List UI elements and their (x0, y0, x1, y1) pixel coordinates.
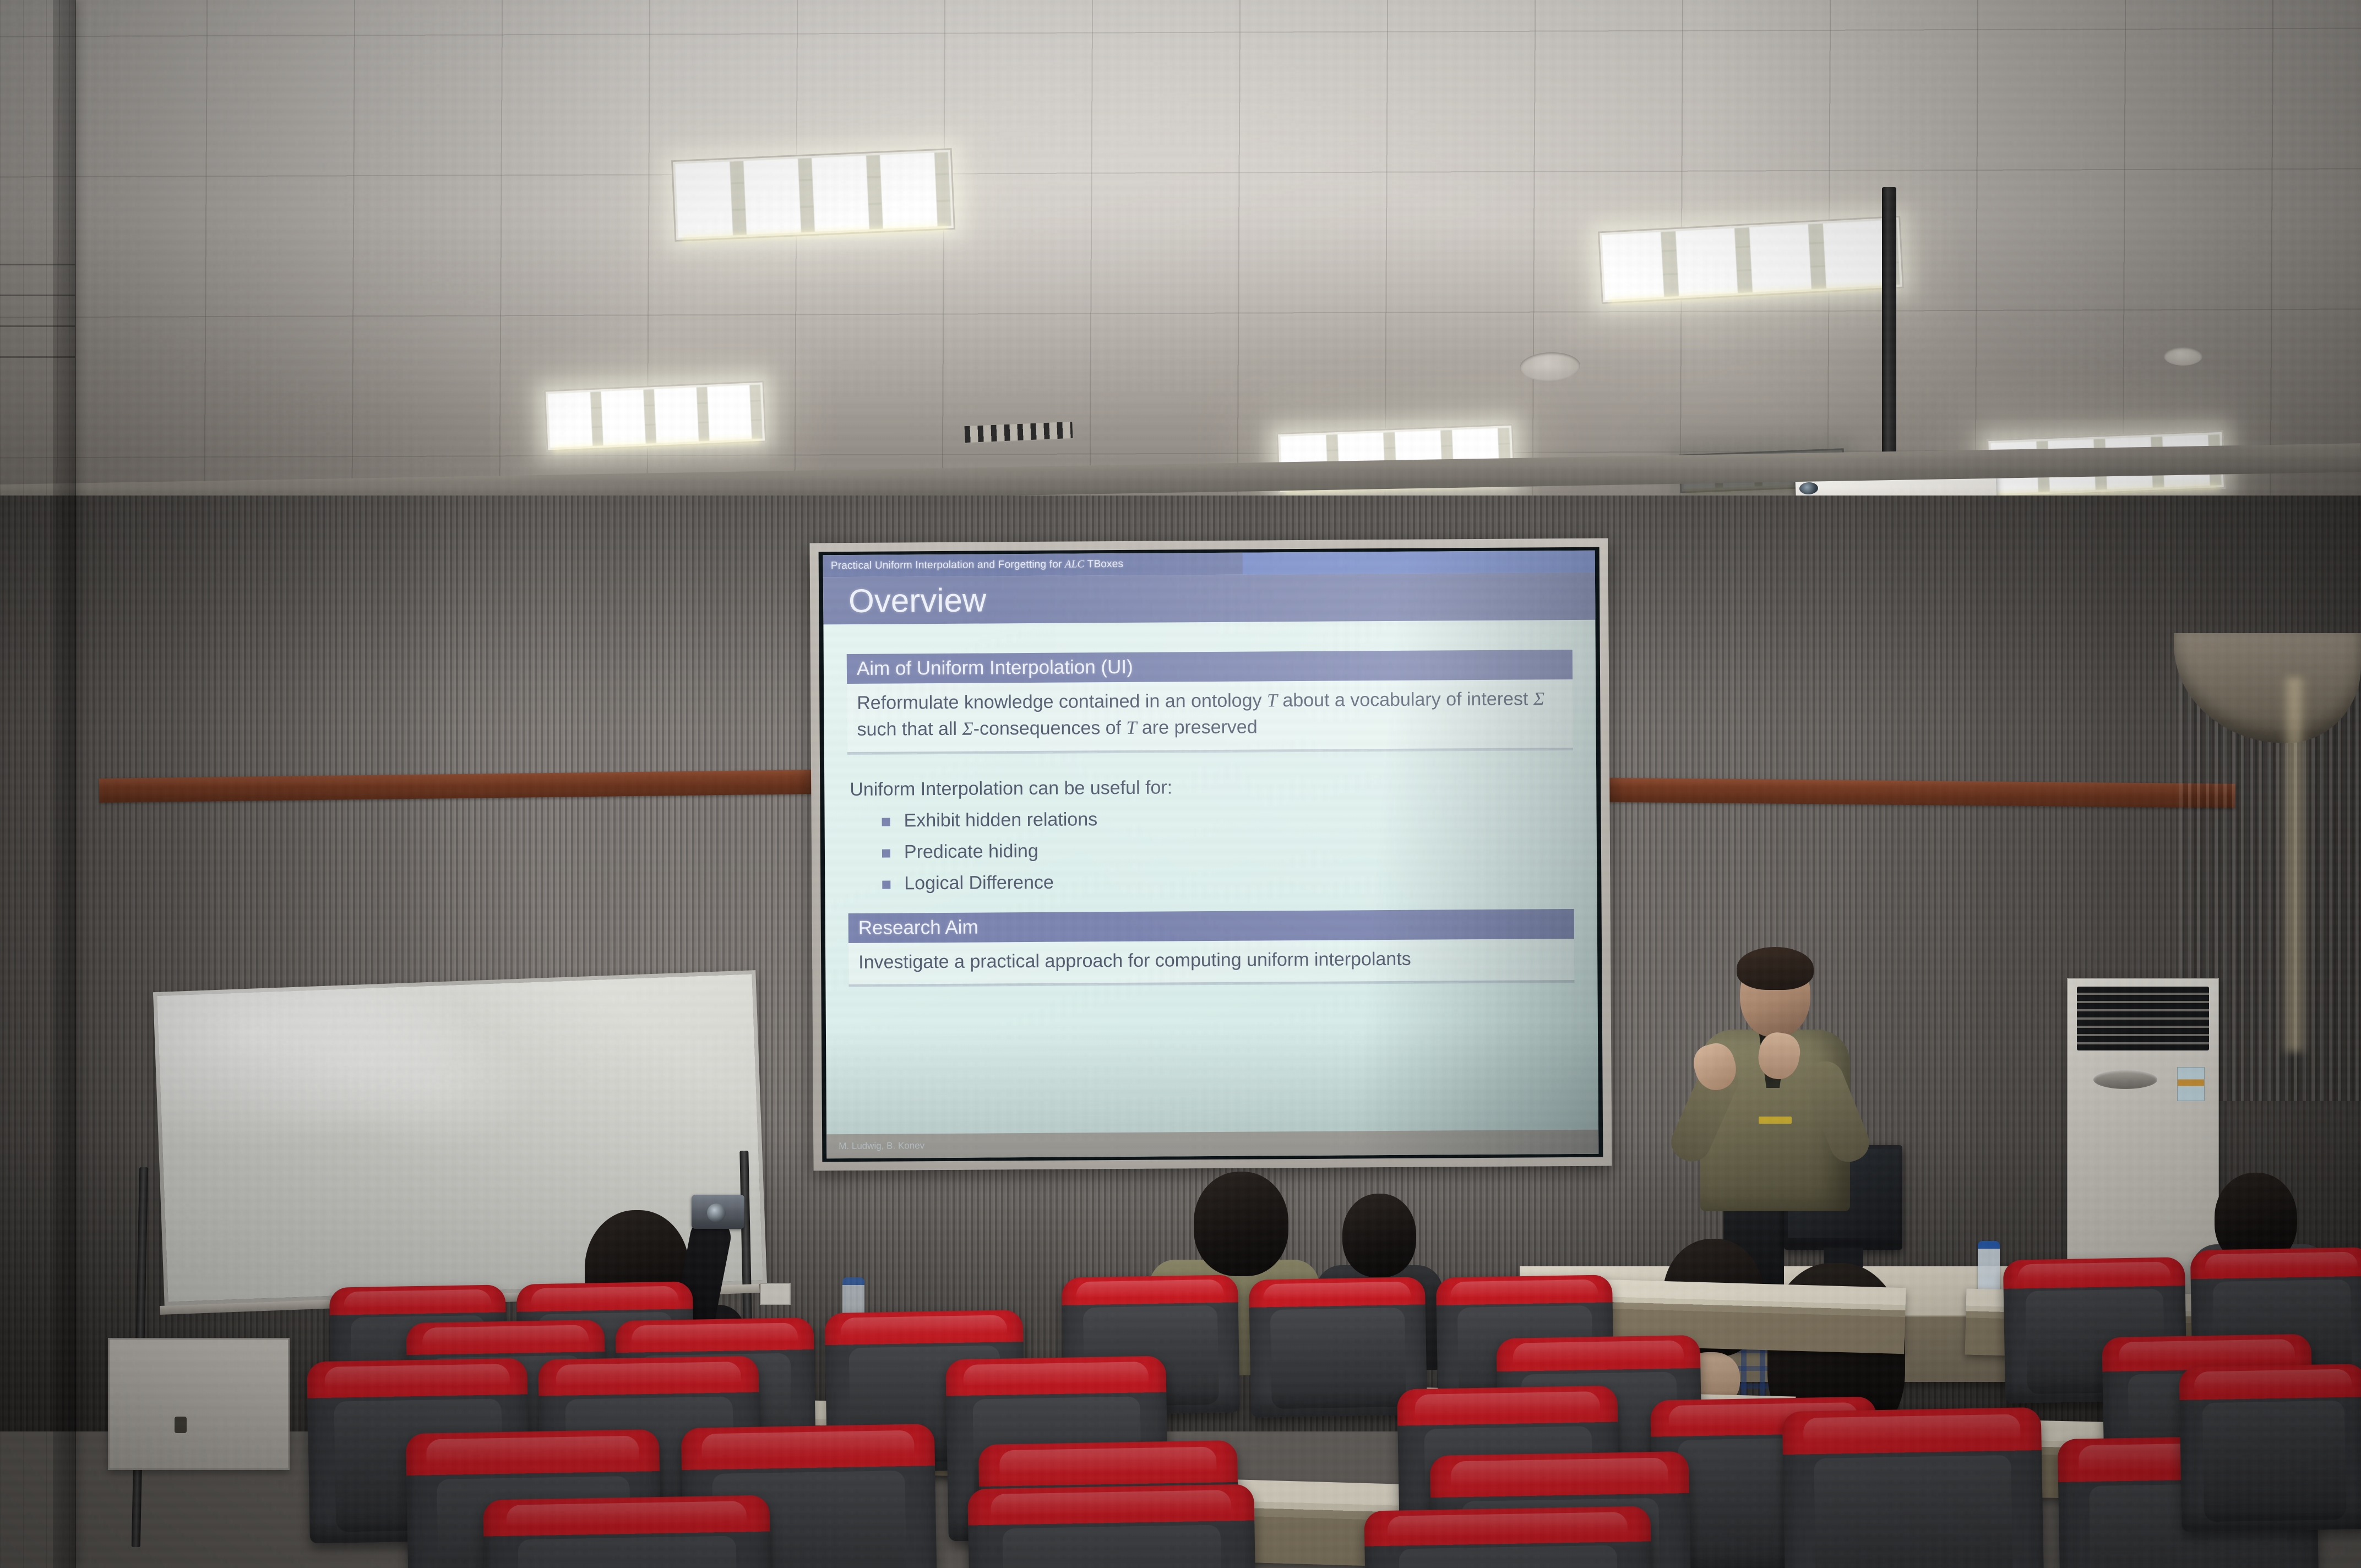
attendee-head (1194, 1172, 1288, 1276)
auditorium-seat[interactable] (483, 1495, 773, 1568)
window-daylight-glow (2281, 677, 2308, 1052)
ceiling-light-icon (544, 380, 767, 451)
slide-block-aim: Aim of Uniform Interpolation (UI) Reform… (847, 650, 1573, 754)
cabinet-handle-icon[interactable] (175, 1417, 187, 1433)
running-title-suffix: TBoxes (1084, 558, 1123, 570)
bullet-label: Exhibit hidden relations (904, 809, 1097, 831)
auditorium-seat[interactable] (967, 1484, 1257, 1568)
ac-louver-grille-icon (2077, 987, 2209, 1050)
presenter-hair (1737, 947, 1814, 990)
aim-symbol-sigma2: Σ (962, 719, 973, 739)
aim-symbol-T1: T (1267, 690, 1277, 711)
slide-bullet-list: Exhibit hidden relations Predicate hidin… (882, 806, 1574, 895)
list-item: Predicate hiding (882, 837, 1574, 863)
presenter-shirt-badge (1759, 1117, 1792, 1124)
slide-block-research-aim: Research Aim Investigate a practical app… (848, 909, 1575, 986)
square-bullet-icon (882, 818, 890, 826)
block-body-aim: Reformulate knowledge contained in an on… (847, 679, 1573, 754)
slide-section-title: Overview (848, 581, 986, 620)
projector-mount-pole (1882, 187, 1896, 473)
aim-text-4: -consequences of (973, 717, 1127, 739)
aim-symbol-T2: T (1126, 718, 1136, 738)
ceiling-light-icon (671, 148, 955, 242)
bullet-label: Logical Difference (904, 872, 1054, 894)
slide-content: Aim of Uniform Interpolation (UI) Reform… (823, 620, 1598, 1135)
ac-brand-logo (2093, 1070, 2157, 1089)
ac-energy-label (2177, 1067, 2205, 1101)
slide-lead-in: Uniform Interpolation can be useful for: (850, 775, 1573, 801)
running-title-prefix: Practical Uniform Interpolation and Forg… (831, 559, 1065, 572)
column-shadow-edge (53, 0, 76, 1568)
block-heading-aim: Aim of Uniform Interpolation (UI) (847, 650, 1573, 684)
slide-footer-authors: M. Ludwig, B. Konev (839, 1140, 924, 1152)
auditorium-seat[interactable] (2179, 1364, 2361, 1532)
block-heading-research-aim: Research Aim (848, 909, 1574, 943)
list-item: Logical Difference (882, 869, 1574, 895)
auditorium-seat[interactable] (1782, 1407, 2045, 1568)
square-bullet-icon (882, 849, 890, 857)
aim-text-2: about a vocabulary of interest (1277, 688, 1533, 711)
slide-running-title: Practical Uniform Interpolation and Forg… (823, 558, 1124, 572)
lecture-hall-photo: Practical Uniform Interpolation and Forg… (0, 0, 2361, 1568)
block-body-research-aim: Investigate a practical approach for com… (848, 939, 1574, 986)
ceiling-smoke-detector-icon (2164, 347, 2202, 366)
slide-navigation-tab (1243, 551, 1595, 575)
attendee-head (1342, 1194, 1416, 1277)
slide-running-header: Practical Uniform Interpolation and Forg… (823, 551, 1595, 578)
square-bullet-icon (882, 880, 890, 889)
camera-lens-icon (707, 1204, 726, 1222)
aim-symbol-sigma1: Σ (1533, 689, 1544, 709)
auditorium-seat[interactable] (1364, 1506, 1653, 1568)
slide-footer: M. Ludwig, B. Konev (826, 1130, 1598, 1159)
projection-screen: Practical Uniform Interpolation and Forg… (810, 538, 1612, 1171)
list-item: Exhibit hidden relations (882, 806, 1573, 832)
aim-text-5: are preserved (1136, 716, 1257, 738)
ceiling-light-icon (1598, 216, 1904, 304)
aim-text-3: such that all (857, 718, 962, 740)
aim-text-1: Reformulate knowledge contained in an on… (857, 690, 1267, 714)
presentation-slide: Practical Uniform Interpolation and Forg… (823, 551, 1599, 1159)
bullet-label: Predicate hiding (904, 841, 1038, 862)
slide-title-bar: Overview (823, 573, 1595, 625)
running-title-math: ALC (1065, 558, 1085, 570)
wall-cabinet[interactable] (108, 1338, 290, 1470)
